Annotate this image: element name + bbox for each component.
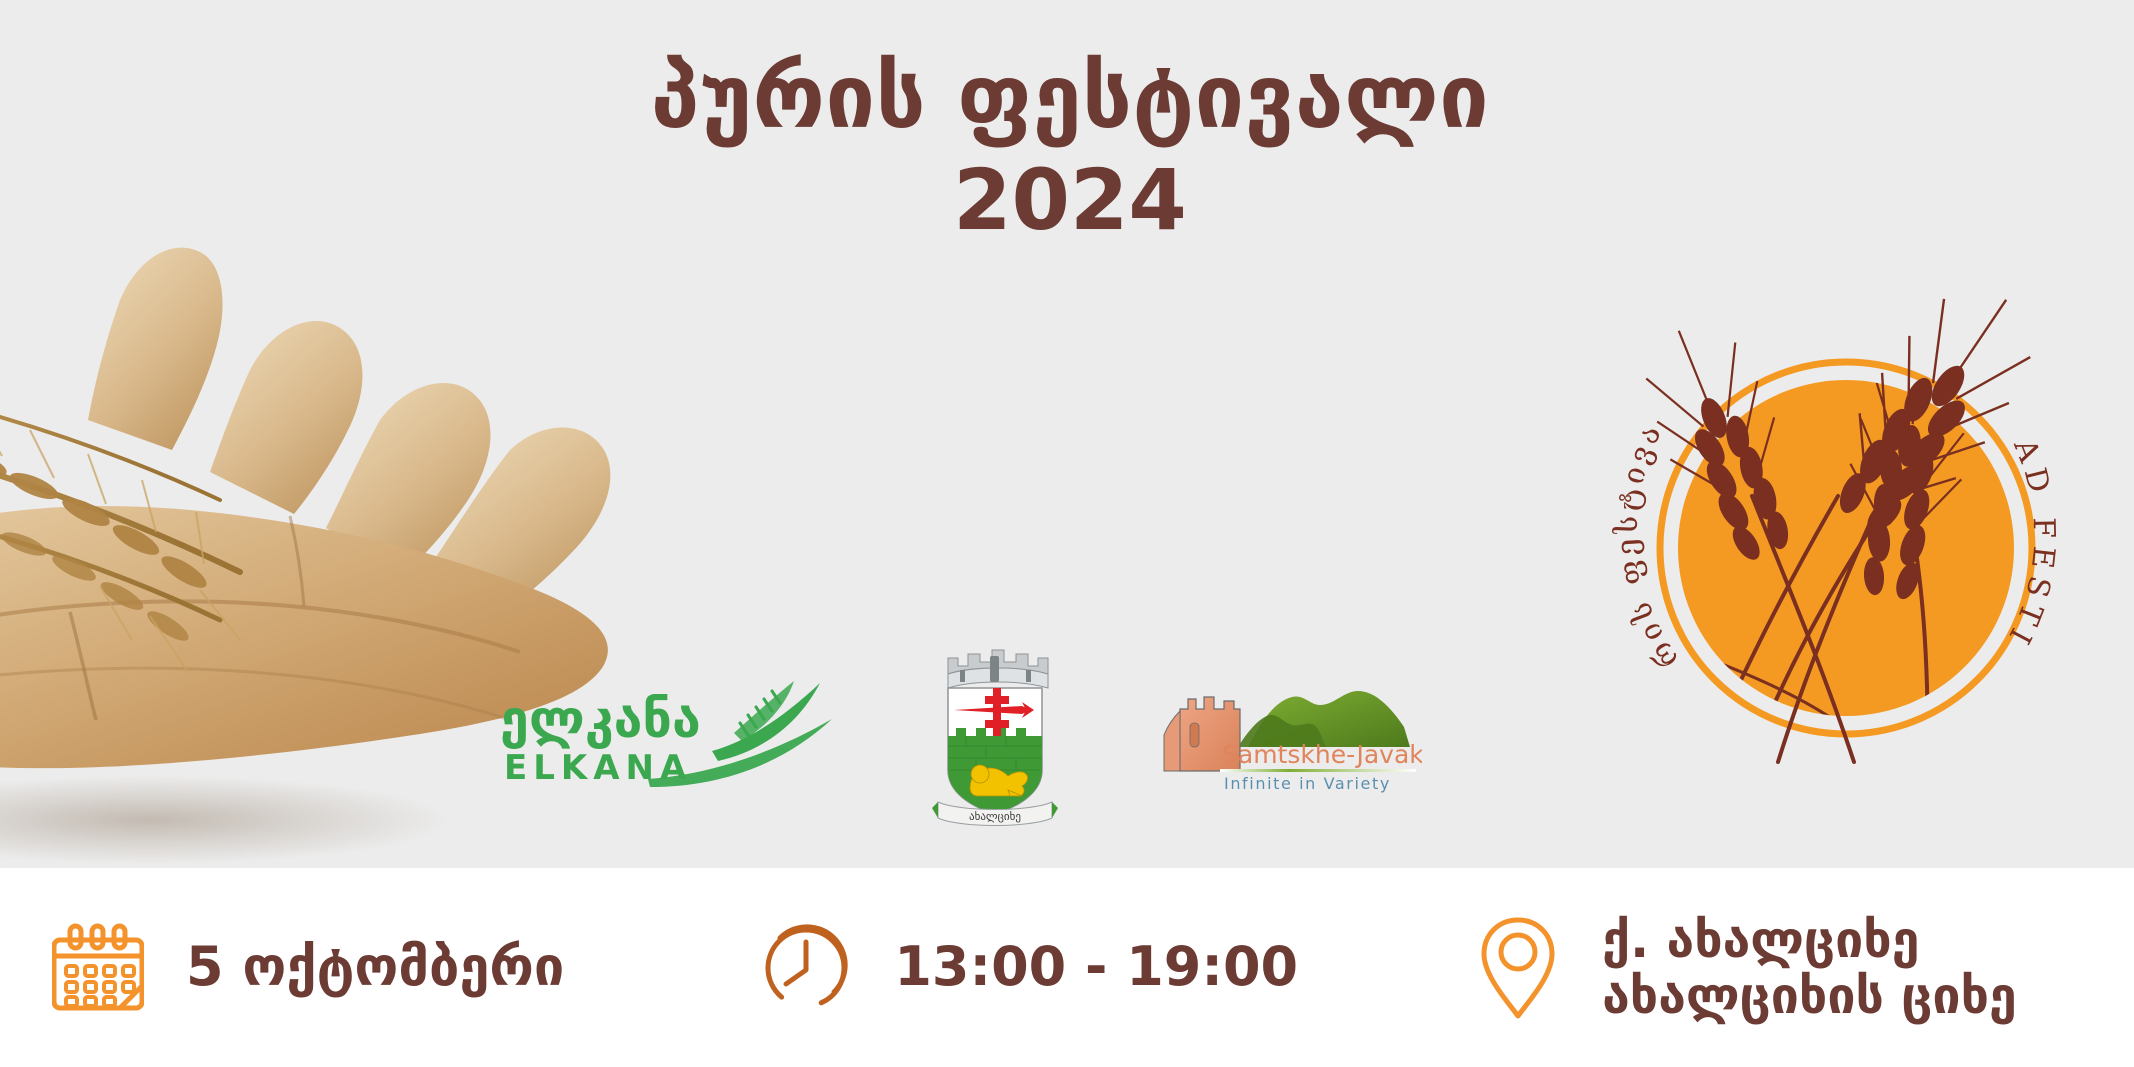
- event-details-bar: 5 ოქტომბერი 13:00 - 19:00 ქ: [0, 868, 2134, 1067]
- event-location: ქ. ახალციხე ახალციხის ციხე: [1474, 912, 2017, 1024]
- samtskhe-javakheti-title: Samtskhe-Javakheti: [1222, 740, 1422, 769]
- coat-of-arms-scroll-text: ახალციხე: [969, 810, 1021, 823]
- elkana-logo: ელკანა ELKANA: [498, 675, 838, 795]
- partner-logos: ელკანა ELKANA: [480, 630, 1540, 840]
- hero-band: პურის ფესტივალი 2024: [0, 0, 2134, 868]
- samtskhe-javakheti-tagline: Infinite in Variety: [1224, 774, 1391, 793]
- clock-icon: [760, 922, 852, 1014]
- event-time-text: 13:00 - 19:00: [894, 937, 1298, 997]
- bread-festival-emblem: პურის ფესტივალი BREAD FESTIVAL: [1556, 196, 2134, 796]
- samtskhe-javakheti-logo: Samtskhe-Javakheti Infinite in Variety: [1152, 675, 1422, 795]
- akhaltsikhe-coat-of-arms: ახალციხე: [930, 640, 1060, 830]
- event-date: 5 ოქტომბერი: [52, 918, 564, 1018]
- calendar-icon: [52, 918, 144, 1018]
- elkana-georgian-text: ელკანა: [500, 690, 701, 750]
- poster-root: პურის ფესტივალი 2024: [0, 0, 2134, 1067]
- title-year: 2024: [480, 158, 1660, 244]
- title-line-georgian: პურის ფესტივალი: [480, 52, 1660, 142]
- map-pin-icon: [1474, 912, 1562, 1024]
- page-title: პურის ფესტივალი 2024: [480, 52, 1660, 243]
- event-location-line1: ქ. ახალციხე: [1602, 912, 2017, 968]
- event-location-text: ქ. ახალციხე ახალციხის ციხე: [1602, 912, 2017, 1024]
- event-time: 13:00 - 19:00: [760, 922, 1298, 1014]
- event-location-line2: ახალციხის ციხე: [1602, 968, 2017, 1024]
- event-date-text: 5 ოქტომბერი: [186, 937, 564, 997]
